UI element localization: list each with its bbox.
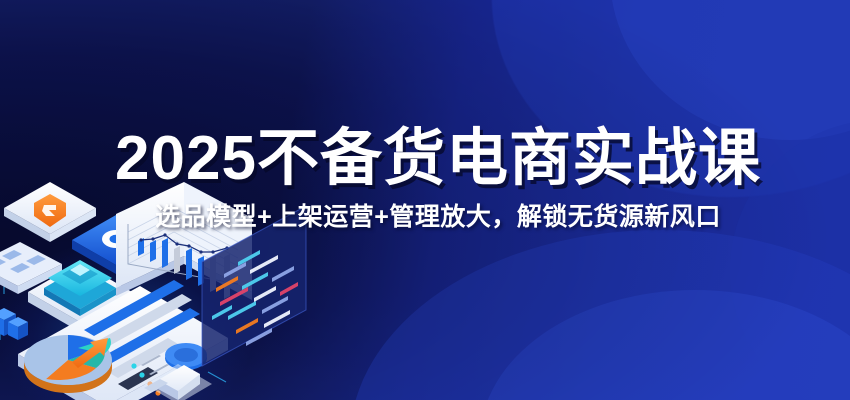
course-banner: 2025不备货电商实战课 选品模型+上架运营+管理放大，解锁无货源新风口 xyxy=(0,0,850,400)
banner-subtitle: 选品模型+上架运营+管理放大，解锁无货源新风口 xyxy=(0,204,850,232)
banner-text-block: 2025不备货电商实战课 选品模型+上架运营+管理放大，解锁无货源新风口 xyxy=(0,128,850,232)
pie-chart xyxy=(24,335,112,393)
panel-circle-button xyxy=(165,343,207,370)
banner-title: 2025不备货电商实战课 xyxy=(0,128,850,190)
blue-cubes xyxy=(0,308,28,340)
